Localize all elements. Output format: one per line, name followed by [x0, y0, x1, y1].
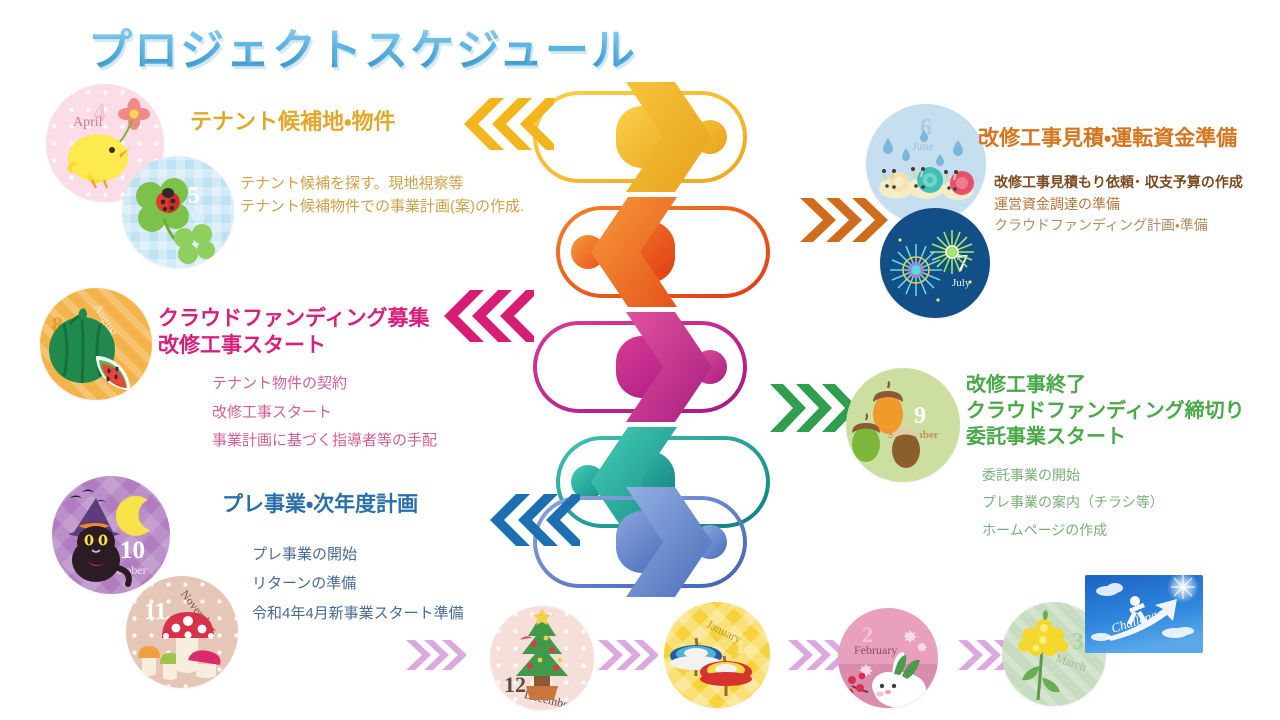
body-line: テナント候補物件での事業計画(案)の作成.: [240, 195, 524, 218]
section-body-tenant: テナント候補を探す。現地視察等 テナント候補物件での事業計画(案)の作成.: [240, 172, 524, 219]
body-line: 事業計画に基づく指導者等の手配: [212, 427, 437, 456]
body-line: クラウドファンディング計画・準備: [994, 215, 1243, 237]
chevron-right-violet-icon-1: [404, 638, 466, 672]
body-line: プレ事業の開始: [252, 540, 464, 569]
spinning-tops-icon: [664, 602, 770, 708]
heading-line: 改修工事終了: [966, 372, 1245, 398]
month-badge-june: 6 June: [866, 104, 986, 224]
fireworks-icon: [880, 208, 990, 318]
infographic-canvas: プロジェクトスケジュール: [0, 0, 1280, 720]
chevron-left-blue-icon: [486, 492, 580, 548]
acorns-icon: [846, 368, 960, 482]
section-body-estimate: 改修工事見積もり依頼･ 収支予算の作成 運営資金調達の準備 クラウドファンディン…: [994, 172, 1243, 237]
watermelon-icon: [40, 288, 152, 400]
christmas-tree-icon: [490, 606, 594, 710]
section-body-prebusiness: プレ事業の開始 リターンの準備 令和4年4月新事業スタート準備: [252, 540, 464, 628]
body-line: 委託事業の開始: [982, 462, 1164, 489]
challenge-image: Challenge: [1085, 575, 1203, 653]
month-badge-may: 5 May: [122, 156, 234, 268]
body-line: リターンの準備: [252, 569, 464, 598]
section-heading-prebusiness: プレ事業・次年度計画: [222, 492, 418, 519]
heading-line: クラウドファンディング締切り: [966, 398, 1245, 424]
section-body-crowdfunding: テナント物件の契約 改修工事スタート 事業計画に基づく指導者等の手配: [212, 370, 437, 456]
body-line-emphasis: 改修工事見積もり依頼･ 収支予算の作成: [994, 172, 1243, 194]
month-badge-february: 2 February: [838, 608, 938, 708]
section-heading-completion: 改修工事終了 クラウドファンディング締切り 委託事業スタート: [966, 372, 1245, 450]
body-line: 令和4年4月新事業スタート準備: [252, 599, 464, 628]
month-badge-august: 8 8 August: [40, 288, 152, 400]
section-heading-tenant: テナント候補地・物件: [190, 108, 395, 136]
body-line: テナント物件の契約: [212, 370, 437, 399]
heading-line: 委託事業スタート: [966, 424, 1245, 450]
rabbit-icon: [838, 608, 938, 708]
section-body-completion: 委託事業の開始 プレ事業の案内（チラシ等） ホームページの作成: [982, 462, 1164, 544]
chevron-left-magenta-icon: [440, 288, 534, 344]
clover-ladybug-icon: [122, 156, 234, 268]
month-badge-september: 9 September: [846, 368, 960, 482]
page-title: プロジェクトスケジュール: [88, 14, 637, 78]
mushrooms-icon: [126, 576, 238, 688]
section-heading-estimate: 改修工事見積・運転資金準備: [978, 126, 1237, 153]
chevron-left-yellow-icon: [460, 96, 554, 152]
chevron-right-violet-icon-2: [596, 638, 658, 672]
heading-line: 改修工事スタート: [158, 333, 430, 360]
month-badge-december: 12 December: [490, 606, 594, 710]
section-heading-crowdfunding: クラウドファンディング募集 改修工事スタート: [158, 306, 430, 360]
body-line: ホームページの作成: [982, 517, 1164, 544]
month-badge-november: 11 November: [126, 576, 238, 688]
month-badge-january: 1 January: [664, 602, 770, 708]
body-line: プレ事業の案内（チラシ等）: [982, 489, 1164, 516]
body-line: 運営資金調達の準備: [994, 194, 1243, 216]
raindrops-snails-icon: [866, 104, 986, 224]
body-line: 改修工事スタート: [212, 399, 437, 428]
body-line: テナント候補を探す。現地視察等: [240, 172, 524, 195]
heading-line: クラウドファンディング募集: [158, 306, 430, 333]
month-badge-july: 7 July: [880, 208, 990, 318]
